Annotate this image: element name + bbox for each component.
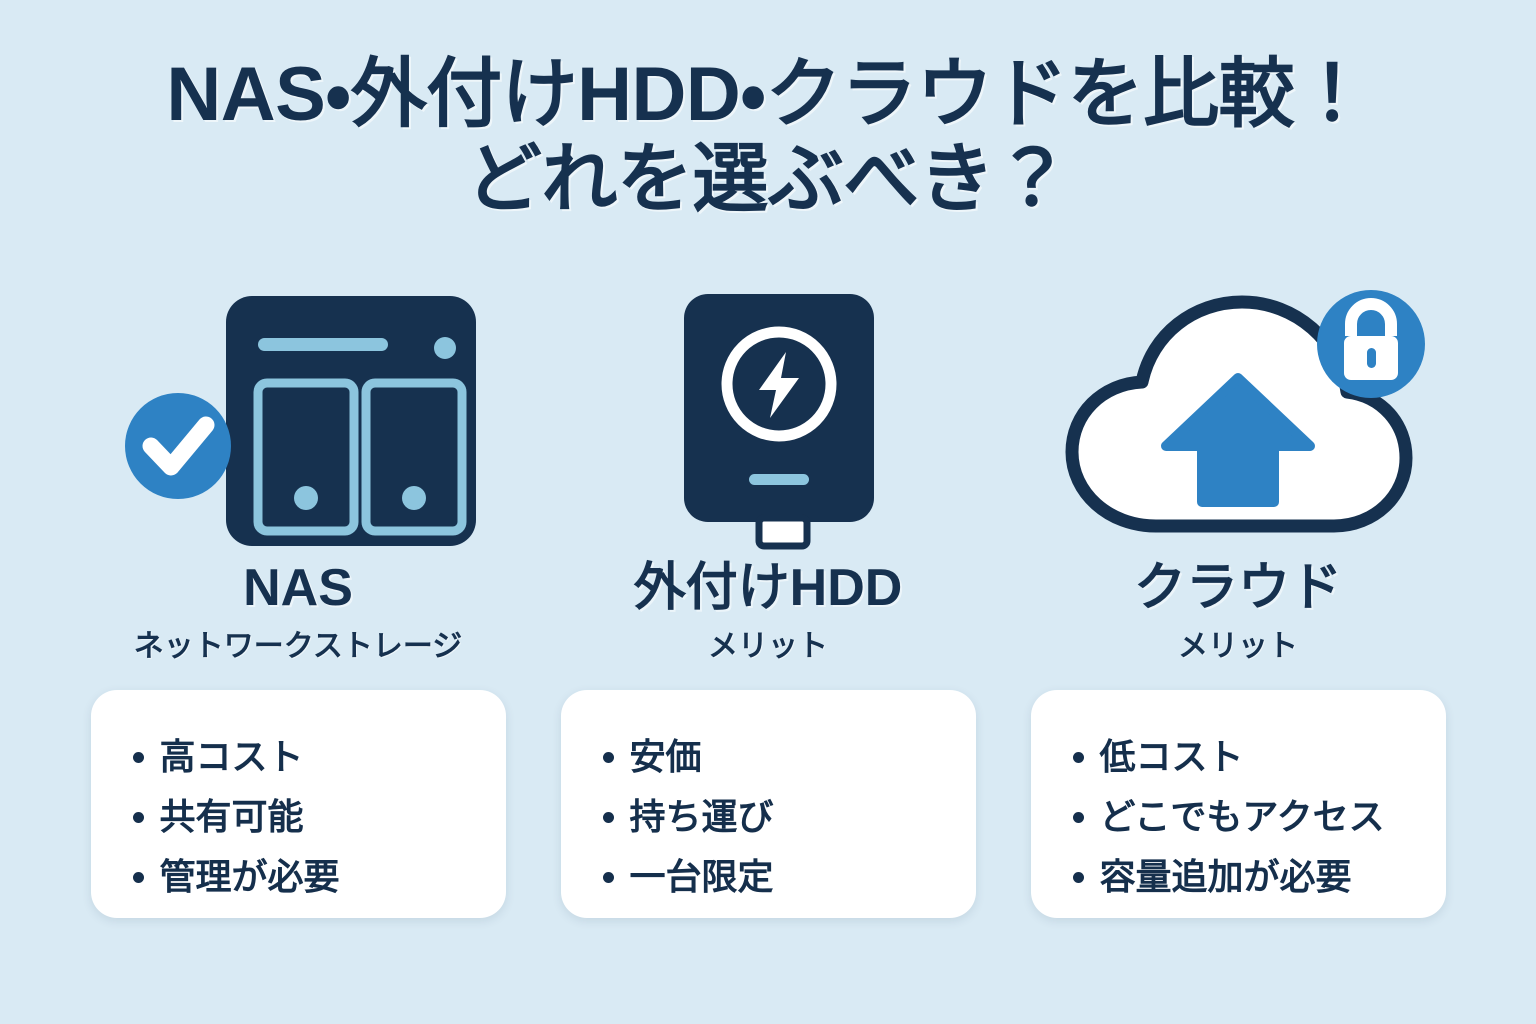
bullet-dot-icon bbox=[1073, 812, 1084, 823]
title-line-2: どれを選ぶべき？ bbox=[0, 137, 1536, 222]
bullet-text: 管理が必要 bbox=[160, 859, 340, 895]
nas-server-icon bbox=[118, 286, 478, 554]
lock-badge-icon bbox=[1317, 290, 1425, 398]
card-hdd: 安価 持ち運び 一台限定 bbox=[561, 690, 976, 918]
bullet-text: 低コスト bbox=[1100, 739, 1244, 775]
column-title-hdd: 外付けHDD bbox=[634, 562, 903, 614]
list-item: 安価 bbox=[603, 727, 976, 787]
column-hdd: 外付けHDD メリット 安価 持ち運び 一台限定 bbox=[548, 286, 988, 918]
bullet-dot-icon bbox=[1073, 872, 1084, 883]
bullet-dot-icon bbox=[133, 752, 144, 763]
external-hdd-icon bbox=[618, 286, 918, 554]
bullet-text: 一台限定 bbox=[630, 859, 774, 895]
column-title-nas: NAS bbox=[243, 562, 353, 614]
bullet-text: 共有可能 bbox=[160, 799, 304, 835]
list-item: 管理が必要 bbox=[133, 847, 506, 907]
list-item: 低コスト bbox=[1073, 727, 1446, 787]
title-line-1: NAS・外付けHDD・クラウドを比較！ bbox=[0, 52, 1536, 137]
comparison-columns: NAS ネットワークストレージ 高コスト 共有可能 管理が必要 bbox=[78, 286, 1458, 918]
cloud-upload-icon bbox=[1038, 286, 1438, 554]
list-item: 共有可能 bbox=[133, 787, 506, 847]
bullet-dot-icon bbox=[603, 872, 614, 883]
bullet-dot-icon bbox=[1073, 752, 1084, 763]
list-item: どこでもアクセス bbox=[1073, 787, 1446, 847]
card-cloud: 低コスト どこでもアクセス 容量追加が必要 bbox=[1031, 690, 1446, 918]
list-item: 容量追加が必要 bbox=[1073, 847, 1446, 907]
bullet-text: 容量追加が必要 bbox=[1100, 859, 1352, 895]
column-subtitle-hdd: メリット bbox=[708, 632, 828, 662]
list-item: 一台限定 bbox=[603, 847, 976, 907]
card-nas: 高コスト 共有可能 管理が必要 bbox=[91, 690, 506, 918]
column-cloud: クラウド メリット 低コスト どこでもアクセス 容量追加が必要 bbox=[1018, 286, 1458, 918]
list-item: 持ち運び bbox=[603, 787, 976, 847]
bullet-text: 高コスト bbox=[160, 739, 304, 775]
column-nas: NAS ネットワークストレージ 高コスト 共有可能 管理が必要 bbox=[78, 286, 518, 918]
bullet-dot-icon bbox=[603, 812, 614, 823]
column-title-cloud: クラウド bbox=[1134, 562, 1342, 614]
bullet-text: 安価 bbox=[630, 739, 702, 775]
bullet-text: どこでもアクセス bbox=[1100, 799, 1385, 835]
hdd-icon-area bbox=[548, 286, 988, 554]
column-subtitle-cloud: メリット bbox=[1178, 632, 1298, 662]
bullet-dot-icon bbox=[603, 752, 614, 763]
nas-icon-area bbox=[78, 286, 518, 554]
column-subtitle-nas: ネットワークストレージ bbox=[134, 632, 463, 662]
cloud-icon-area bbox=[1018, 286, 1458, 554]
bullet-dot-icon bbox=[133, 812, 144, 823]
bullet-dot-icon bbox=[133, 872, 144, 883]
list-item: 高コスト bbox=[133, 727, 506, 787]
bullet-text: 持ち運び bbox=[630, 799, 774, 835]
page-title: NAS・外付けHDD・クラウドを比較！ どれを選ぶべき？ bbox=[0, 52, 1536, 222]
check-badge-icon bbox=[125, 393, 231, 499]
